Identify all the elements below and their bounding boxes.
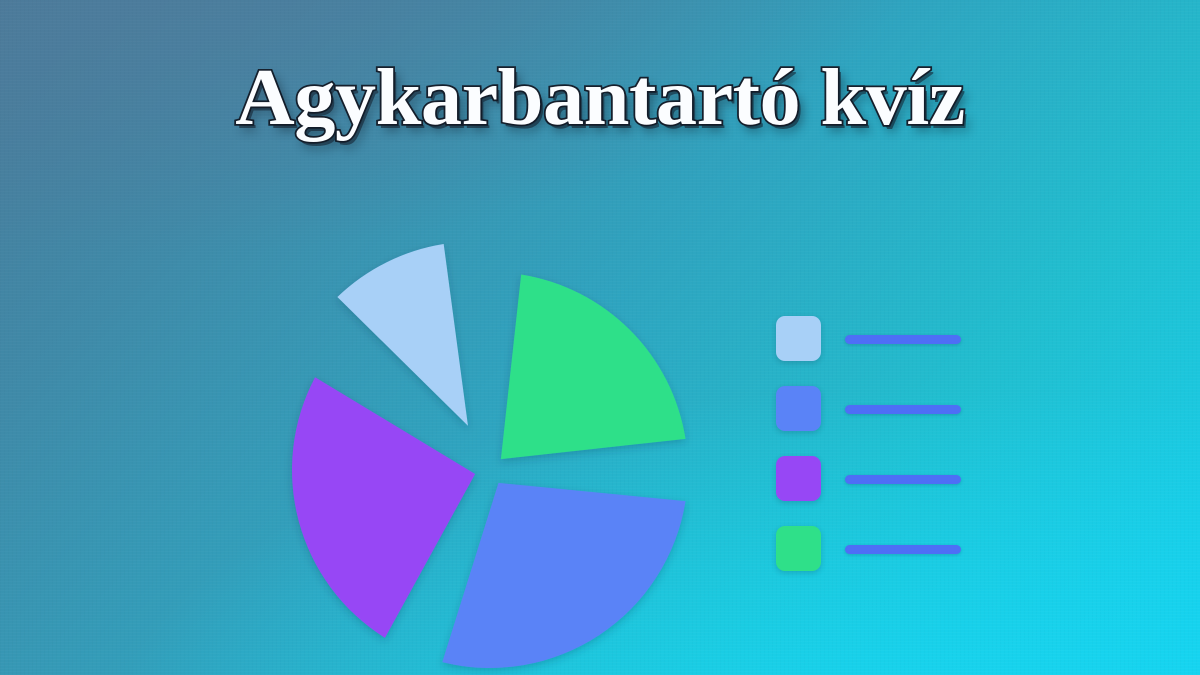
legend-label-placeholder-bar (845, 475, 961, 484)
slide-canvas: Agykarbantartó kvíz (0, 0, 1200, 675)
chart-legend (776, 316, 976, 596)
pie-slice-blue[interactable] (442, 483, 685, 668)
legend-label-placeholder-bar (845, 545, 961, 554)
pie-slice-purple[interactable] (292, 377, 475, 638)
pie-chart (248, 212, 728, 675)
legend-swatch-icon (776, 526, 821, 571)
legend-swatch-icon (776, 456, 821, 501)
pie-chart-svg (248, 212, 728, 675)
legend-swatch-icon (776, 386, 821, 431)
legend-item-blue[interactable] (776, 386, 976, 431)
page-title: Agykarbantartó kvíz (0, 58, 1200, 138)
legend-item-light-blue[interactable] (776, 316, 976, 361)
legend-item-green[interactable] (776, 526, 976, 571)
legend-label-placeholder-bar (845, 405, 961, 414)
legend-label-placeholder-bar (845, 335, 961, 344)
pie-slice-green[interactable] (501, 274, 686, 459)
legend-swatch-icon (776, 316, 821, 361)
pie-slice-light-blue[interactable] (337, 244, 468, 426)
legend-item-purple[interactable] (776, 456, 976, 501)
